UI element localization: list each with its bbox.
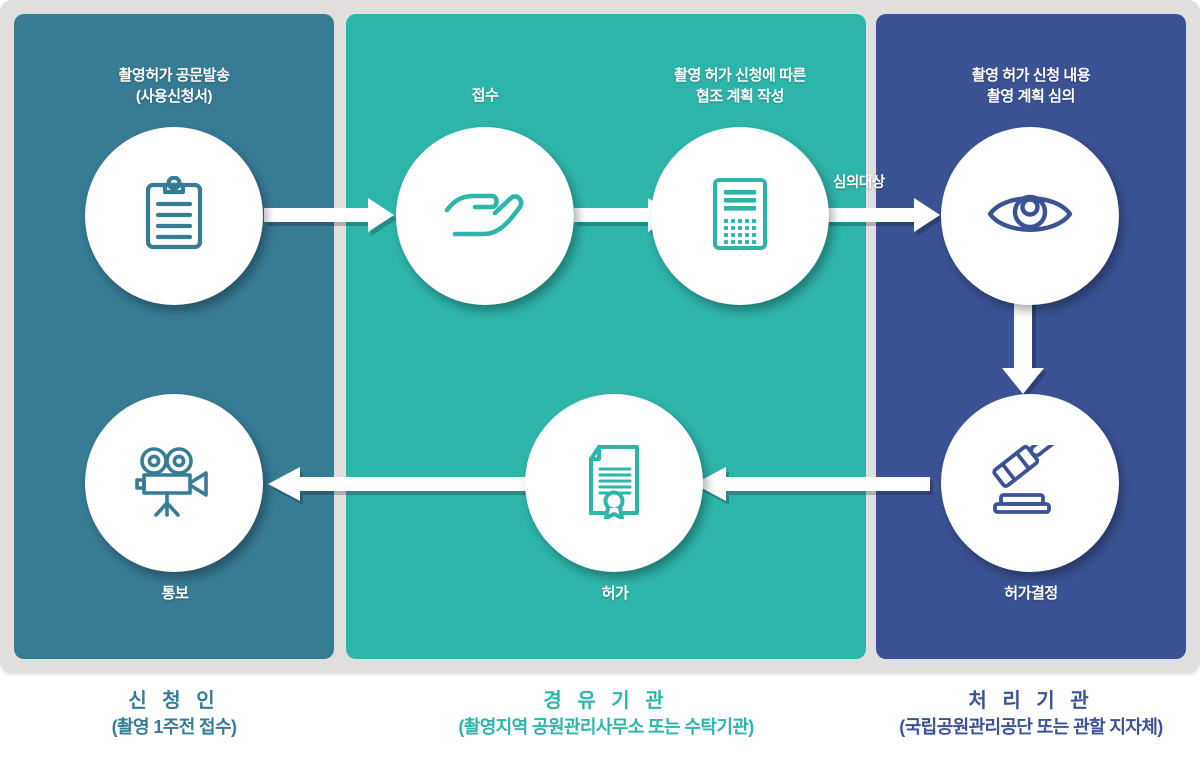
legend-applicant-title: 신 청 인 <box>14 688 334 715</box>
node-notify-caption: 통보 <box>55 583 295 604</box>
hand-receive-icon <box>443 183 527 250</box>
arrow-decision-to-permit <box>694 465 934 505</box>
legend-process: 처 리 기 관 (국립공원관리공단 또는 관할 지자체) <box>876 688 1186 739</box>
node-apply-circle[interactable] <box>85 127 263 305</box>
lane-legend: 신 청 인 (촬영 1주전 접수) 경 유 기 관 (촬영지역 공원관리사무소 … <box>0 688 1200 763</box>
gavel-icon <box>989 445 1071 522</box>
legend-via: 경 유 기 관 (촬영지역 공원관리사무소 또는 수탁기관) <box>346 688 866 739</box>
legend-via-title: 경 유 기 관 <box>346 688 866 715</box>
node-permit-caption: 허가 <box>495 583 735 604</box>
legend-process-sub: (국립공원관리공단 또는 관할 지자체) <box>876 715 1186 739</box>
node-permit-circle[interactable] <box>525 394 703 572</box>
node-review-circle[interactable] <box>941 127 1119 305</box>
arrow-plan-to-review <box>808 196 948 236</box>
node-notify-circle[interactable] <box>85 394 263 572</box>
legend-process-title: 처 리 기 관 <box>876 688 1186 715</box>
arrow-label-review-target: 심의대상 <box>833 171 885 192</box>
arrow-permit-to-notify <box>268 465 536 505</box>
node-review-caption: 촬영 허가 신청 내용 촬영 계획 심의 <box>911 65 1151 108</box>
node-receive-circle[interactable] <box>396 127 574 305</box>
node-plan-caption: 촬영 허가 신청에 따른 협조 계획 작성 <box>620 65 860 108</box>
legend-via-sub: (촬영지역 공원관리사무소 또는 수탁기관) <box>346 715 866 739</box>
arrow-apply-to-receive <box>262 196 402 236</box>
legend-applicant-sub: (촬영 1주전 접수) <box>14 715 334 739</box>
certificate-icon <box>583 443 645 524</box>
document-plan-icon <box>710 176 770 257</box>
node-decision-circle[interactable] <box>941 394 1119 572</box>
node-receive-caption: 접수 <box>370 85 600 106</box>
movie-camera-icon <box>132 445 216 522</box>
eye-icon <box>987 185 1073 248</box>
node-decision-caption: 허가결정 <box>911 583 1151 604</box>
arrow-review-to-decision <box>1000 302 1056 398</box>
node-apply-caption: 촬영허가 공문발송 (사용신청서) <box>54 65 294 108</box>
legend-applicant: 신 청 인 (촬영 1주전 접수) <box>14 688 334 739</box>
clipboard-icon <box>141 176 207 257</box>
node-plan-circle[interactable] <box>651 127 829 305</box>
flowchart-diagram: 심의대상 촬영허가 공문발송 (사용신청서) <box>0 0 1200 763</box>
